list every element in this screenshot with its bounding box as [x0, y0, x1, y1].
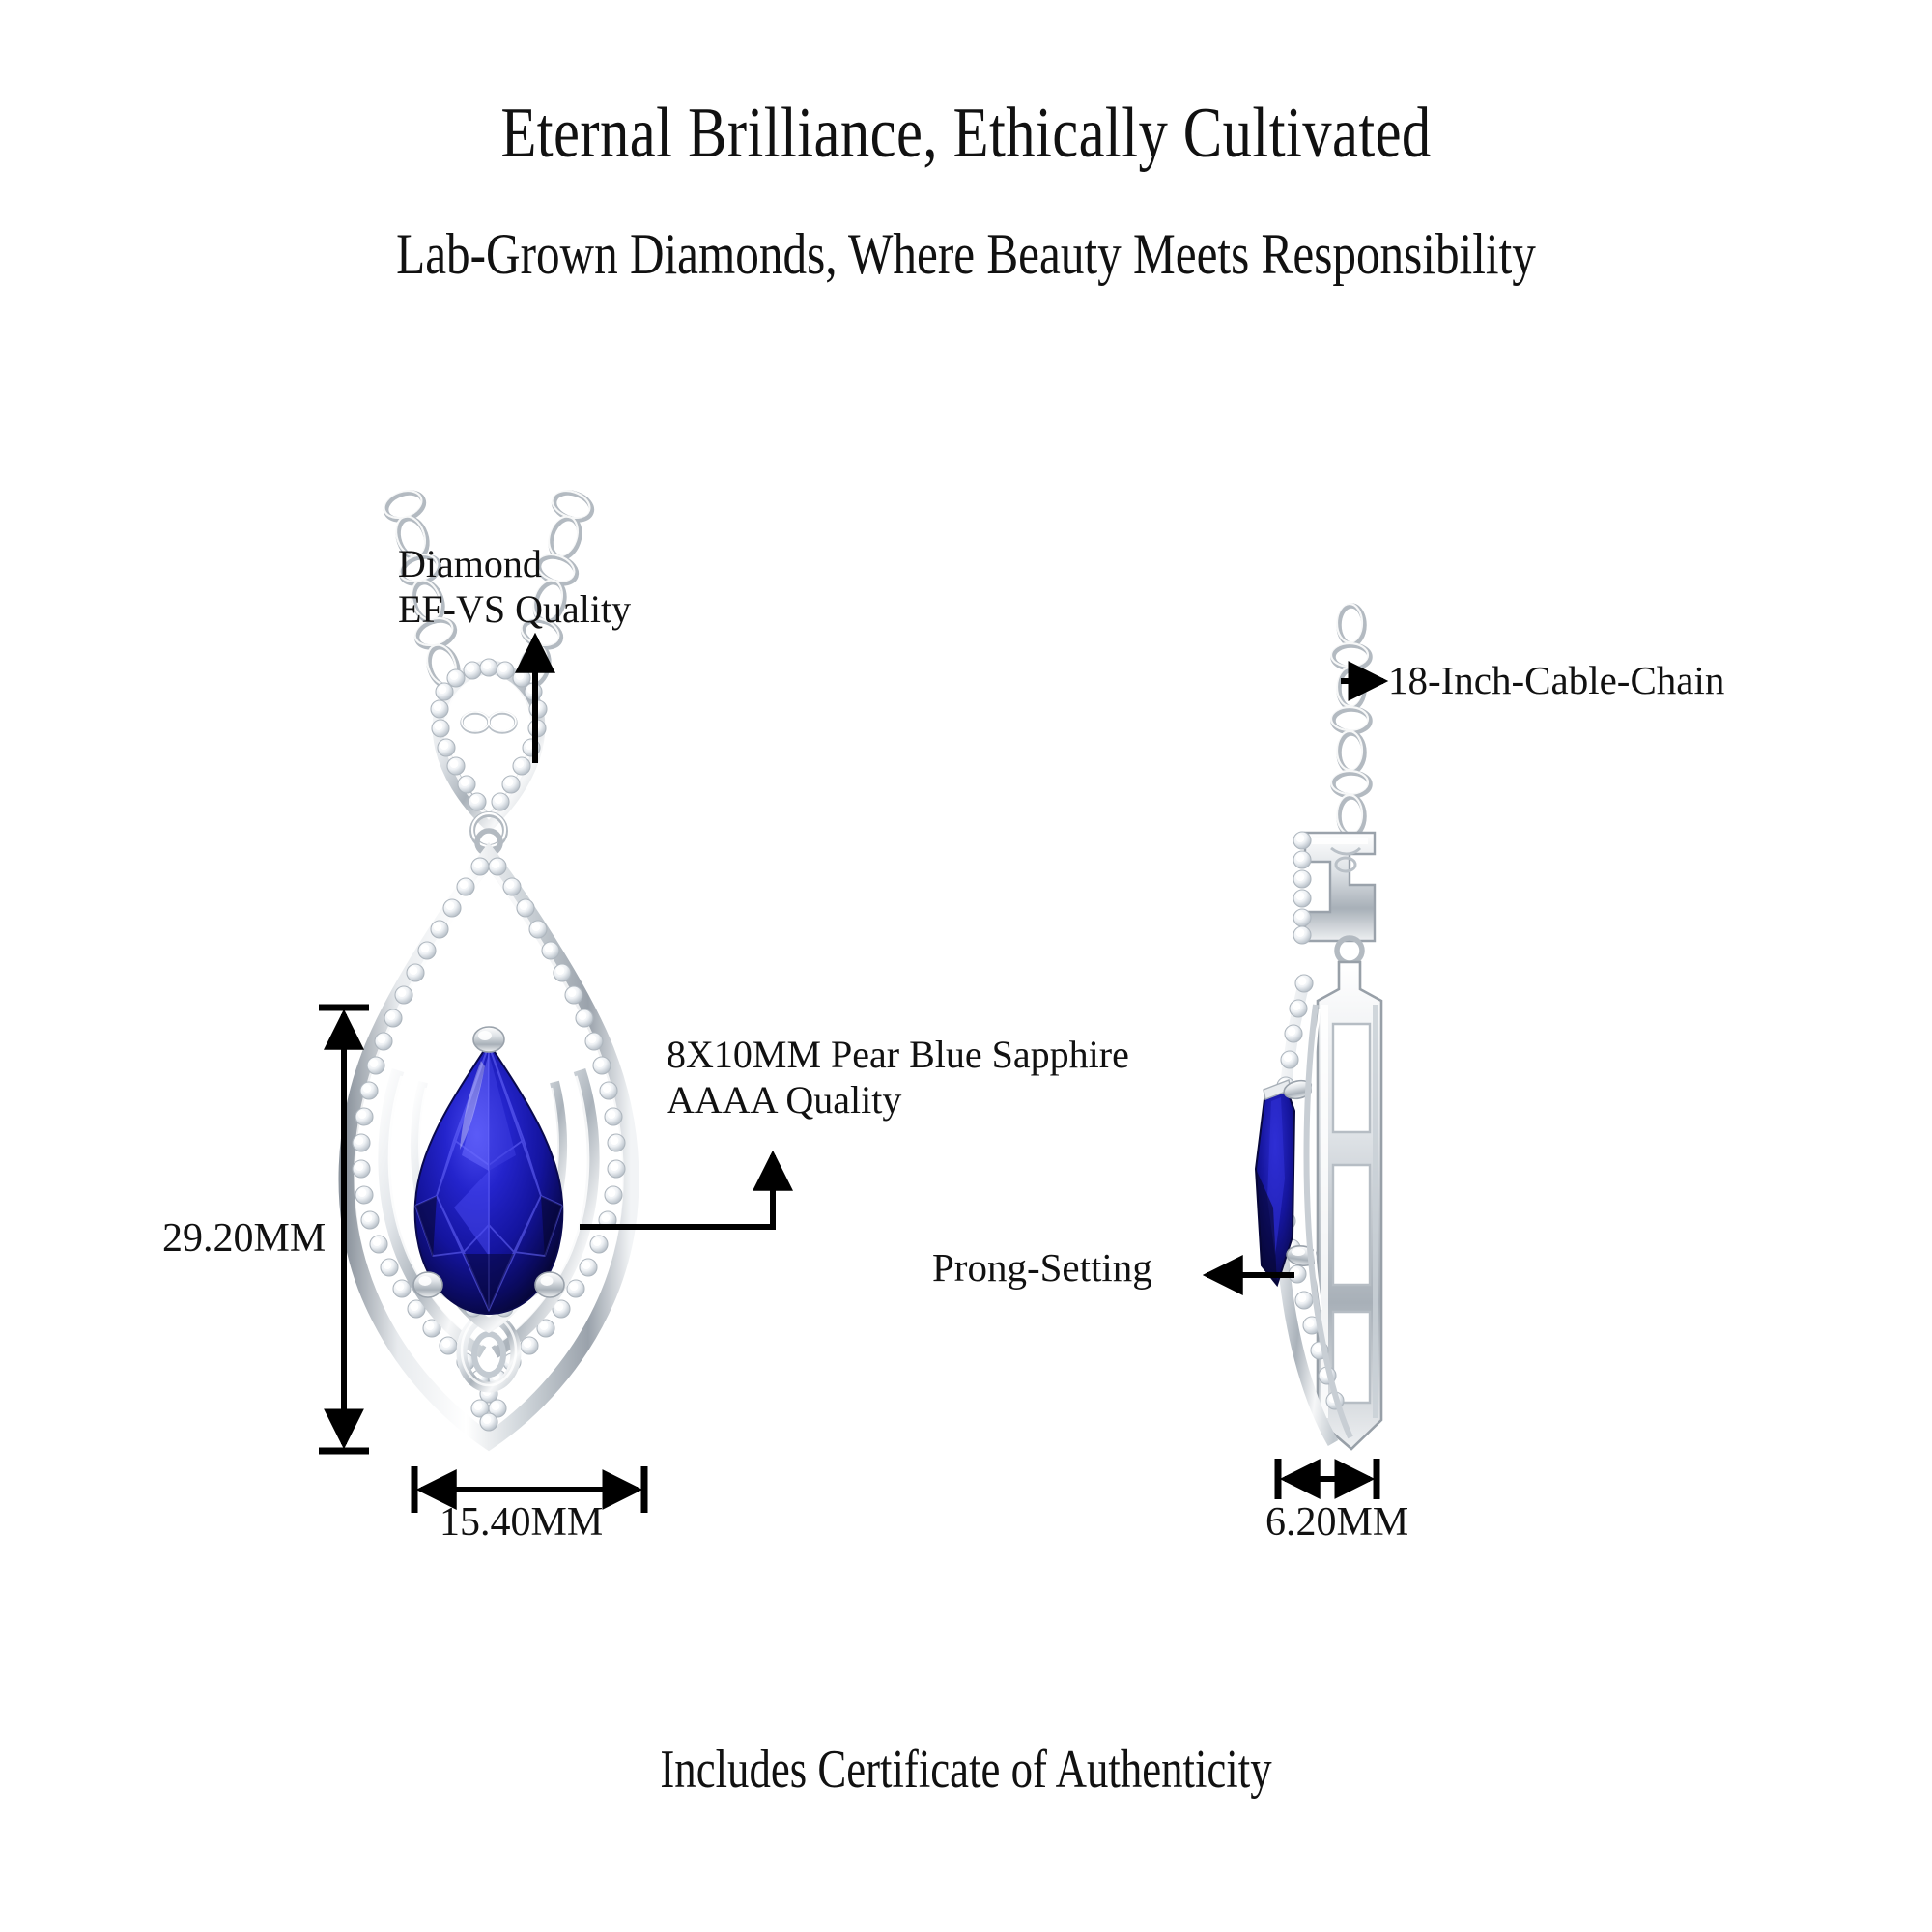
- side-bail: [1293, 832, 1375, 963]
- annotation-diamond: Diamond EF-VS Quality: [398, 541, 631, 632]
- dimension-label-depth: 6.20MM: [1265, 1499, 1408, 1546]
- product-spec-canvas: Eternal Brilliance, Ethically Cultivated…: [0, 0, 1932, 1932]
- dimension-label-width: 15.40MM: [440, 1499, 603, 1546]
- footer-text: Includes Certificate of Authenticity: [193, 1739, 1739, 1801]
- cable-chain-side: [1331, 604, 1370, 836]
- annotation-prong-setting: Prong-Setting: [932, 1244, 1152, 1291]
- annotation-diamond-line2: EF-VS Quality: [398, 586, 631, 632]
- dimension-depth: [1278, 1459, 1377, 1499]
- pave-bail: [431, 659, 547, 854]
- annotation-diamond-line1: Diamond: [398, 541, 631, 586]
- product-illustration: [0, 0, 1932, 1932]
- blue-sapphire-gem: [415, 1043, 563, 1314]
- annotation-gemstone: 8X10MM Pear Blue Sapphire AAAA Quality: [667, 1032, 1129, 1122]
- pendant-side-view: [1256, 604, 1381, 1449]
- annotation-gemstone-line1: 8X10MM Pear Blue Sapphire: [667, 1032, 1129, 1077]
- annotation-chain: 18-Inch-Cable-Chain: [1388, 657, 1724, 703]
- annotation-gemstone-line2: AAAA Quality: [667, 1077, 1129, 1122]
- bail-pave-stones: [431, 659, 547, 810]
- dimension-label-height: 29.20MM: [162, 1215, 326, 1262]
